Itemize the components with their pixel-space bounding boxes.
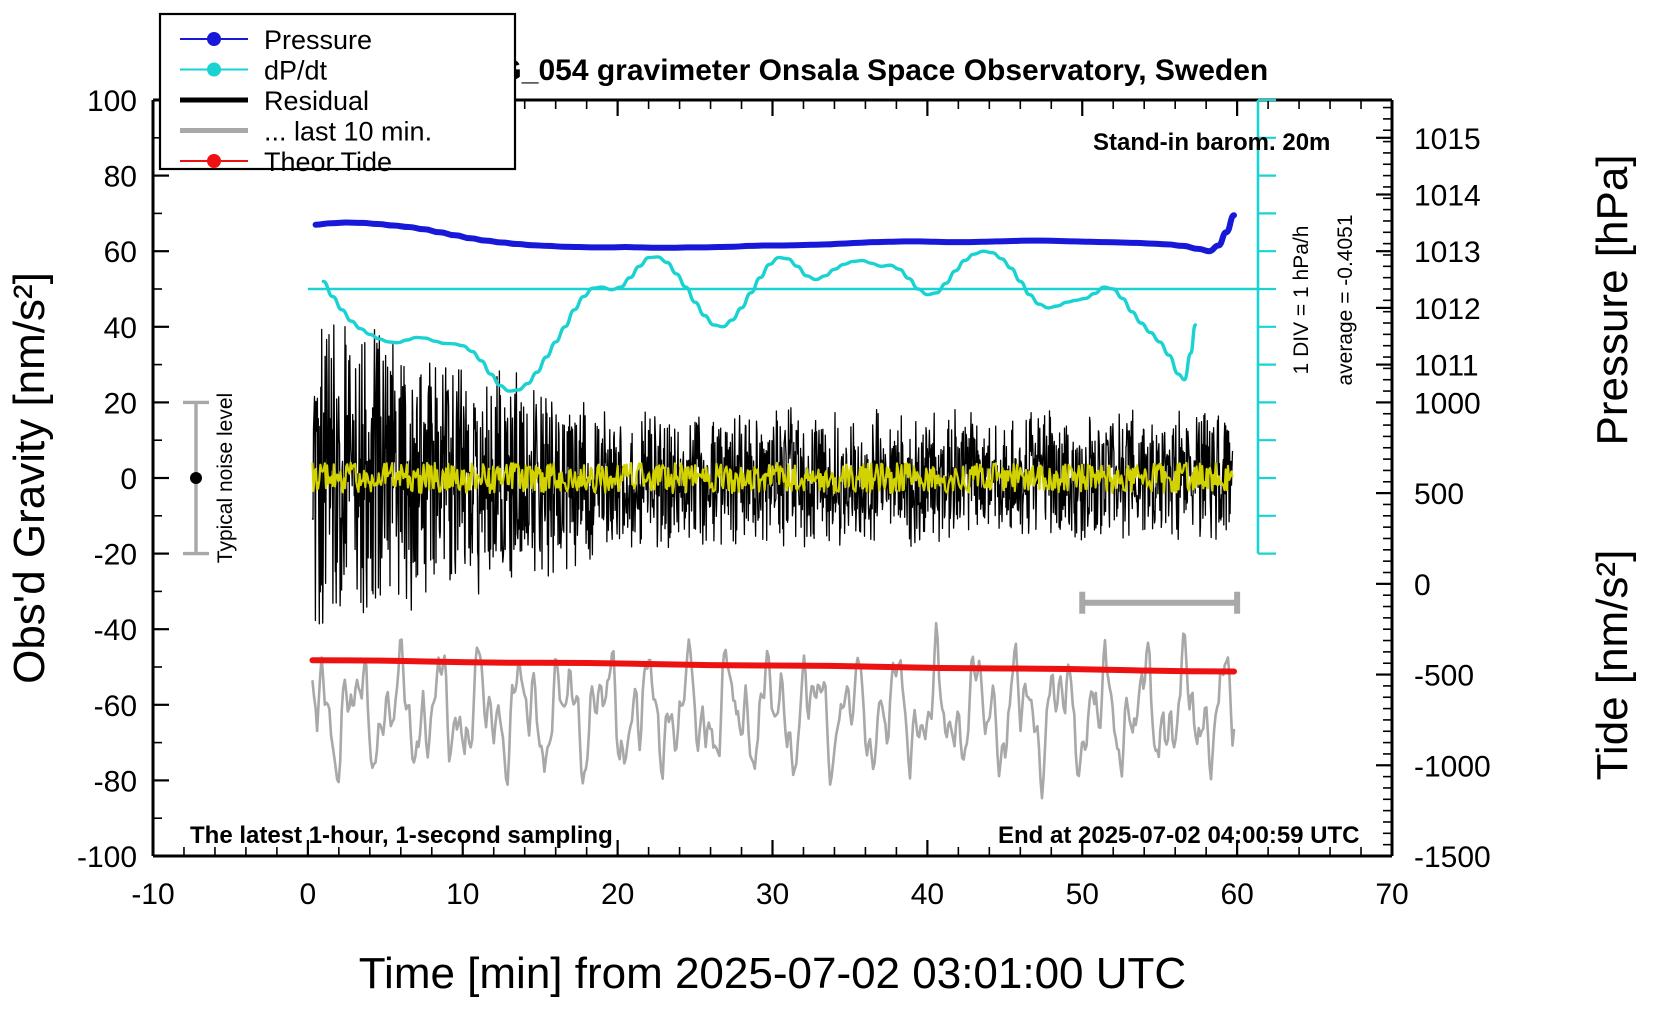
end-time-label: End at 2025-07-02 04:00:59 UTC: [998, 822, 1360, 849]
legend-label-3: ... last 10 min.: [264, 117, 432, 147]
pressure-tick-label: 1015: [1414, 123, 1481, 156]
legend-label-2: Residual: [264, 86, 369, 116]
y-tick-label: -100: [77, 841, 137, 874]
tide-tick-label: -1500: [1414, 841, 1491, 874]
legend-label-0: Pressure: [264, 25, 372, 55]
x-tick-label: 50: [1066, 878, 1099, 911]
legend-marker-4: [207, 154, 221, 168]
x-tick-label: 40: [911, 878, 944, 911]
tide-tick-label: 500: [1414, 478, 1464, 511]
x-tick-label: 30: [756, 878, 789, 911]
y-tick-label: -40: [94, 614, 137, 647]
pressure-axis-title: Pressure [hPa]: [1588, 154, 1637, 445]
tide-tick-label: 0: [1414, 569, 1431, 602]
legend-label-4: Theor.Tide: [264, 147, 392, 177]
pressure-tick-label: 1011: [1414, 350, 1479, 383]
y-tick-label: 20: [104, 387, 137, 420]
y-tick-label: -60: [94, 690, 137, 723]
noise-level-label: Typical noise level: [214, 393, 237, 563]
pressure-tick-label: 1012: [1414, 293, 1481, 326]
legend-marker-0: [207, 32, 221, 46]
y-tick-label: 80: [104, 161, 137, 194]
y-tick-label: 100: [87, 85, 137, 118]
x-tick-label: -10: [131, 878, 174, 911]
x-tick-label: 70: [1375, 878, 1408, 911]
x-tick-label: 10: [446, 878, 479, 911]
tide-tick-label: -1000: [1414, 750, 1491, 783]
y-tick-label: -80: [94, 765, 137, 798]
gravimeter-plot-page: -10010203040506070-100-80-60-40-20020406…: [0, 0, 1660, 1020]
x-axis-title: Time [min] from 2025-07-02 03:01:00 UTC: [359, 949, 1186, 998]
y-tick-label: 0: [120, 463, 137, 496]
y-axis-title: Obs'd Gravity [nm/s²]: [5, 272, 54, 684]
y-tick-label: -20: [94, 539, 137, 572]
tide-tick-label: 1000: [1414, 387, 1481, 420]
x-tick-label: 20: [601, 878, 634, 911]
x-tick-label: 0: [300, 878, 317, 911]
sampling-note-label: The latest 1-hour, 1-second sampling: [190, 822, 613, 849]
pressure-tick-label: 1014: [1414, 180, 1481, 213]
legend-marker-1: [207, 63, 221, 77]
legend-label-1: dP/dt: [264, 56, 328, 86]
y-tick-label: 60: [104, 236, 137, 269]
x-tick-label: 60: [1220, 878, 1253, 911]
dpdt-average-label: average = -0.4051: [1334, 214, 1357, 385]
tide-tick-label: -500: [1414, 660, 1474, 693]
standin-barometer-label: Stand-in barom. 20m: [1093, 129, 1330, 156]
chart-title: SCG_054 gravimeter Onsala Space Observat…: [457, 54, 1269, 87]
noise-bar-center-dot: [190, 472, 202, 484]
pressure-tick-label: 1013: [1414, 236, 1481, 269]
dpdt-scale-label: 1 DIV = 1 hPa/h: [1290, 226, 1313, 375]
y-tick-label: 40: [104, 312, 137, 345]
gravimeter-chart: -10010203040506070-100-80-60-40-20020406…: [0, 0, 1660, 1020]
tide-axis-title: Tide [nm/s²]: [1588, 550, 1637, 781]
